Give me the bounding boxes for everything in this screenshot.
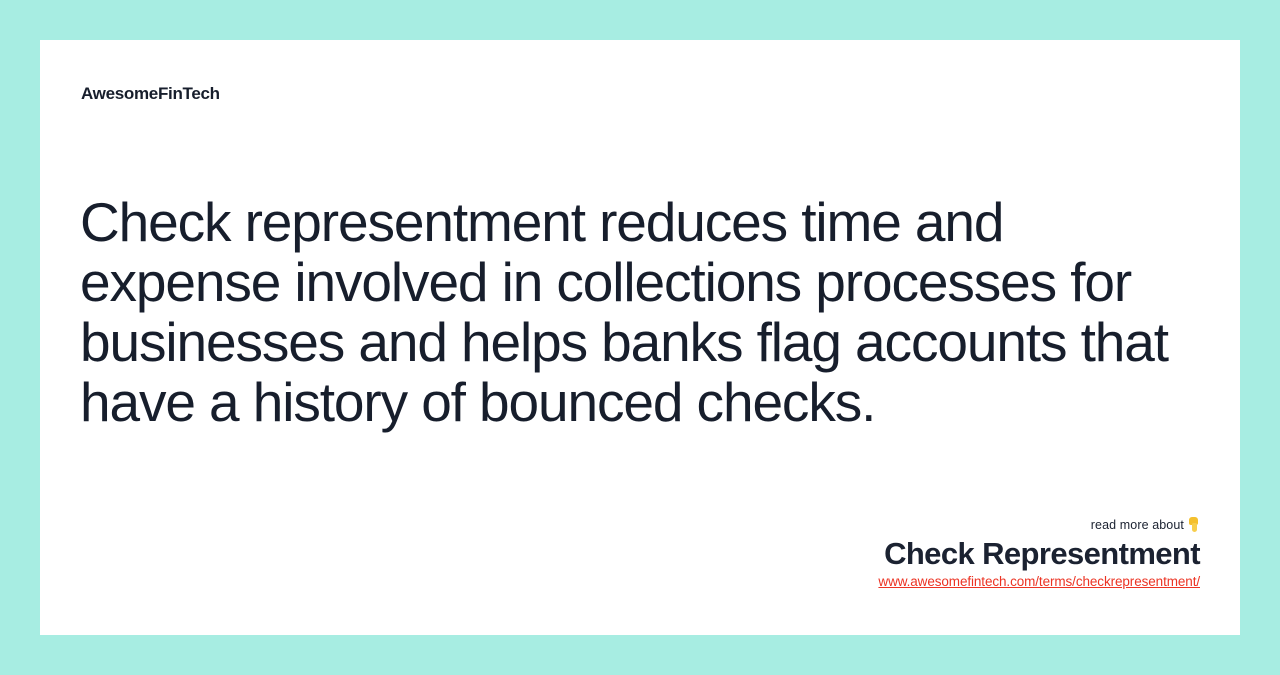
page-title: Check representment reduces time and exp… [80, 192, 1200, 432]
read-more-row: read more about [878, 517, 1200, 533]
pointing-down-hand-icon [1187, 517, 1200, 532]
term-title: Check Representment [878, 535, 1200, 573]
term-url-link[interactable]: www.awesomefintech.com/terms/checkrepres… [878, 573, 1200, 590]
page-root: AwesomeFinTech Check representment reduc… [0, 0, 1280, 675]
content-card: AwesomeFinTech Check representment reduc… [40, 40, 1240, 635]
footer-block: read more about Check Representment www.… [878, 517, 1200, 591]
brand-logo[interactable]: AwesomeFinTech [81, 85, 220, 102]
read-more-label: read more about [1091, 518, 1184, 532]
